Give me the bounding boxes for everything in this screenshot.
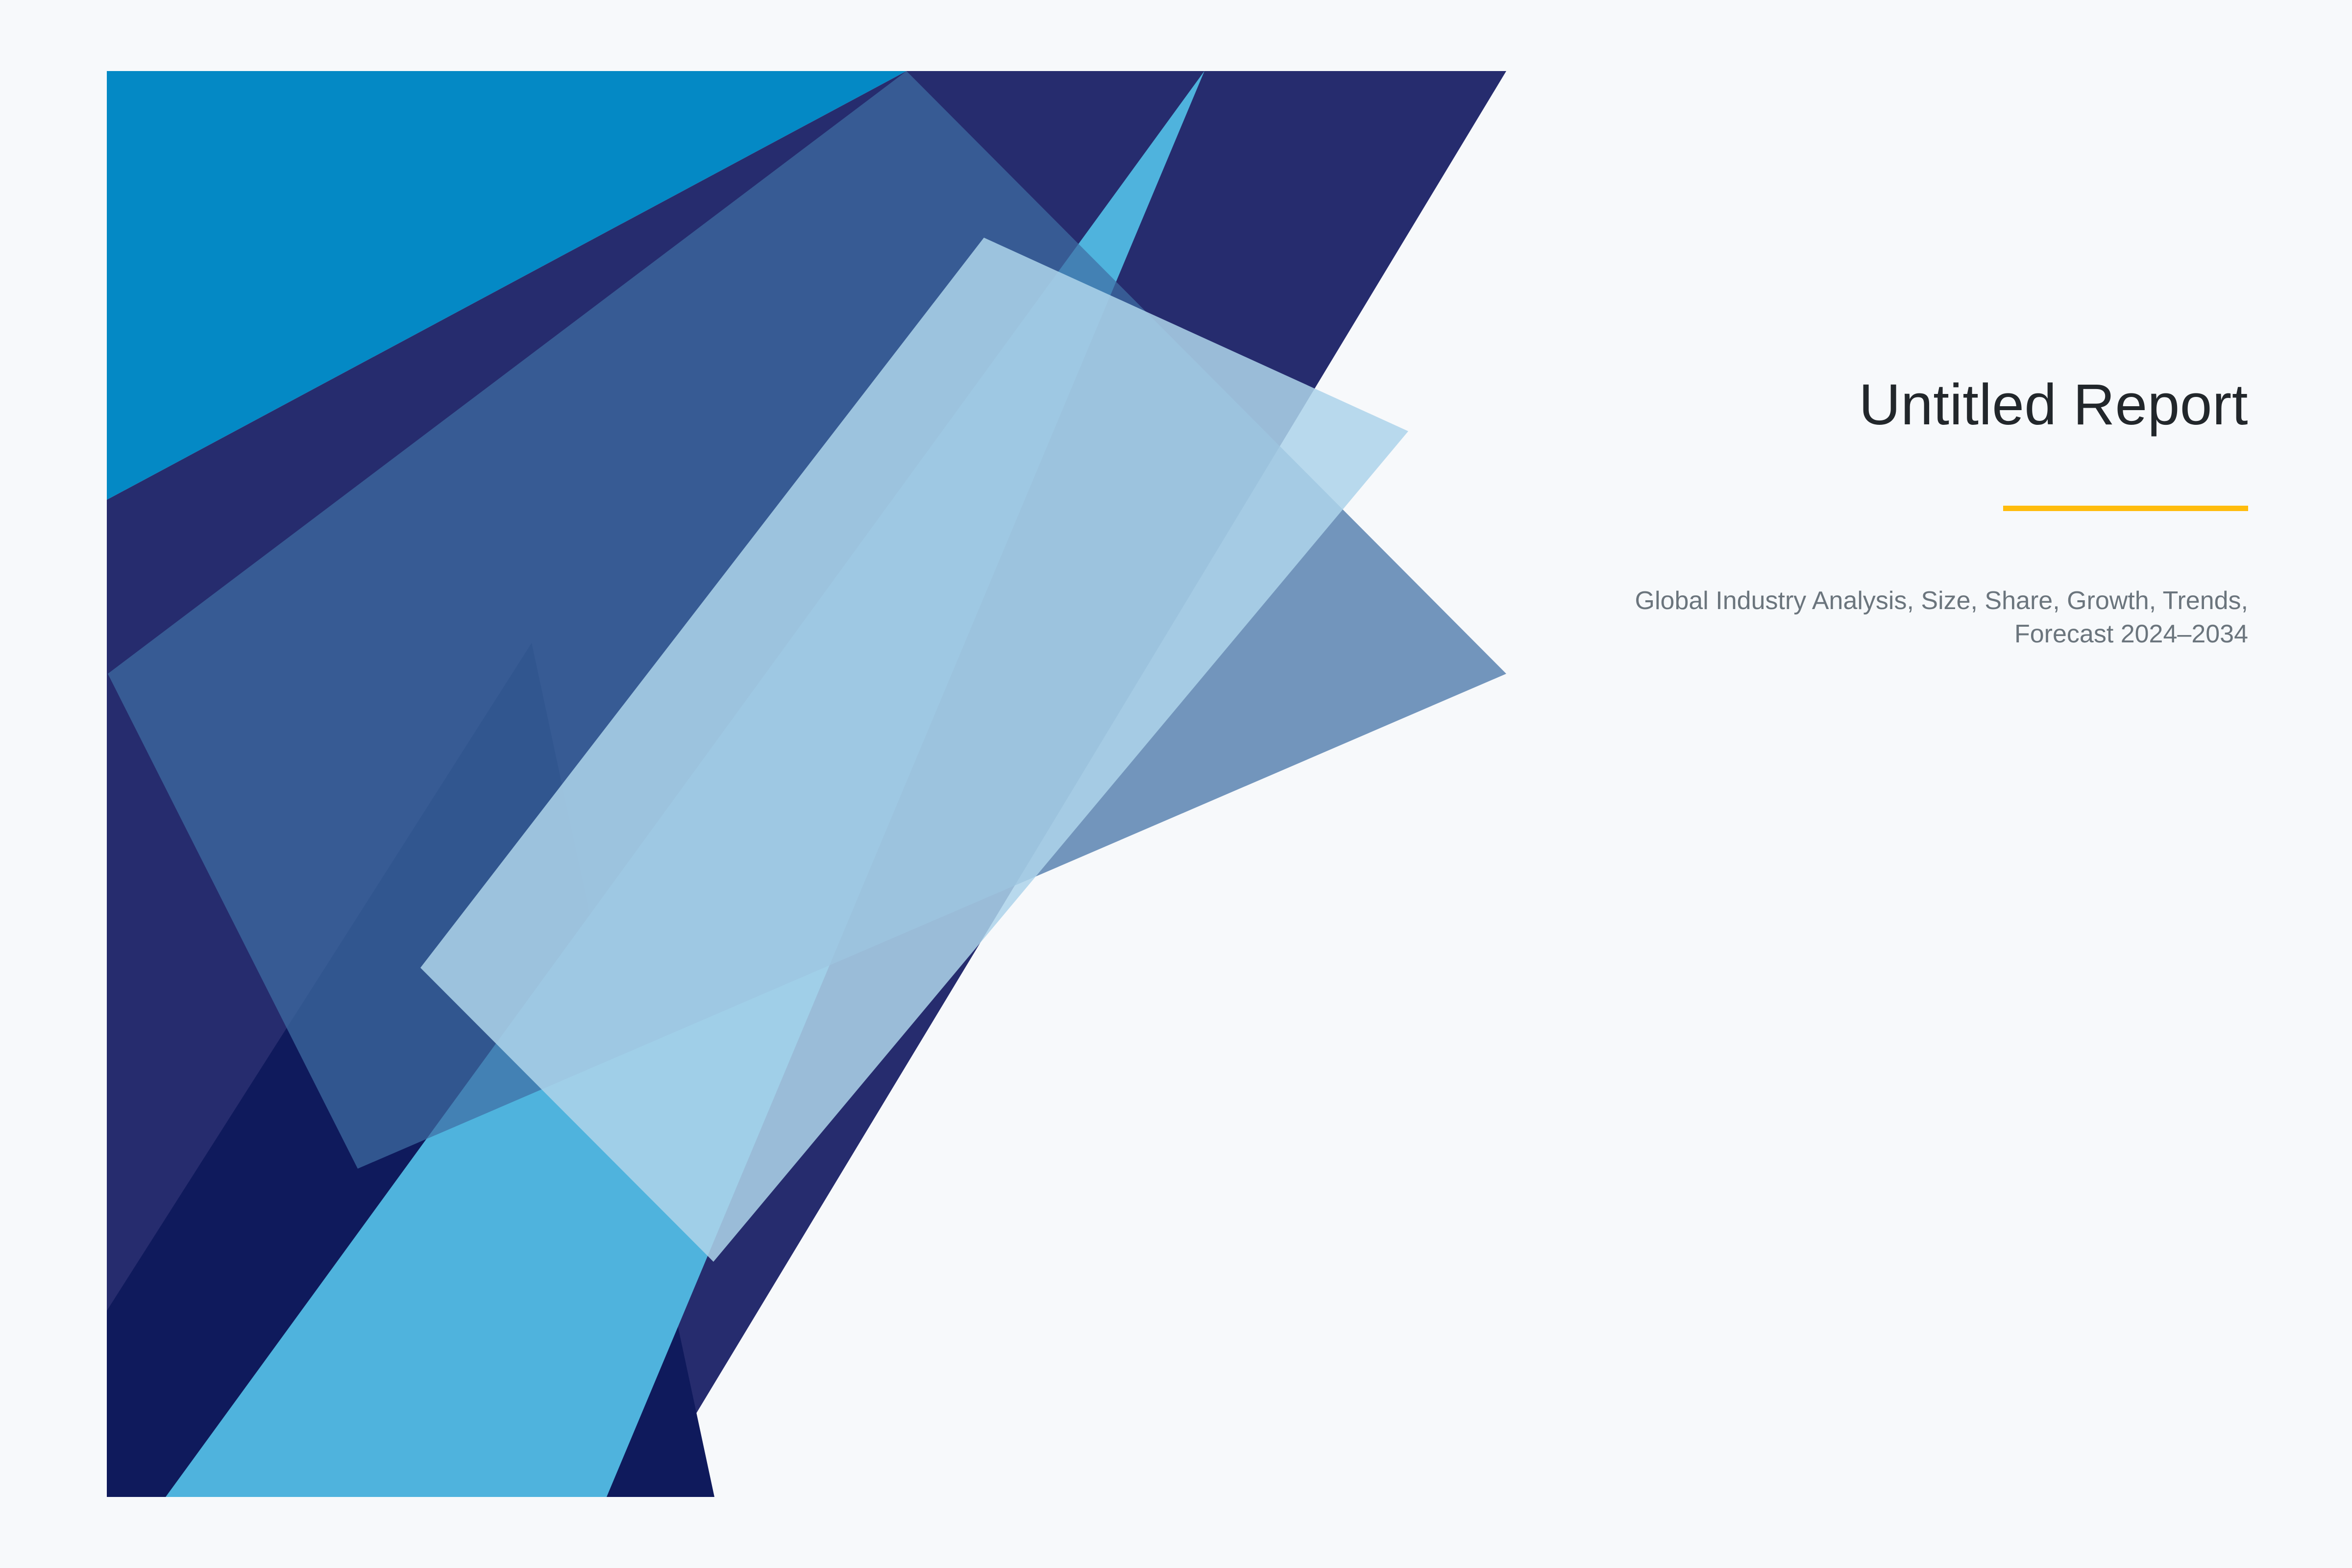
abstract-geometric-graphic (107, 71, 1506, 1497)
page-subtitle: Global Industry Analysis, Size, Share, G… (1611, 585, 2248, 651)
report-cover-page: Untitled Report Global Industry Analysis… (0, 0, 2352, 1568)
accent-rule-divider (2003, 506, 2248, 511)
title-block: Untitled Report Global Industry Analysis… (1268, 372, 2248, 651)
page-title: Untitled Report (1268, 372, 2248, 437)
cover-artwork (107, 71, 1506, 1497)
